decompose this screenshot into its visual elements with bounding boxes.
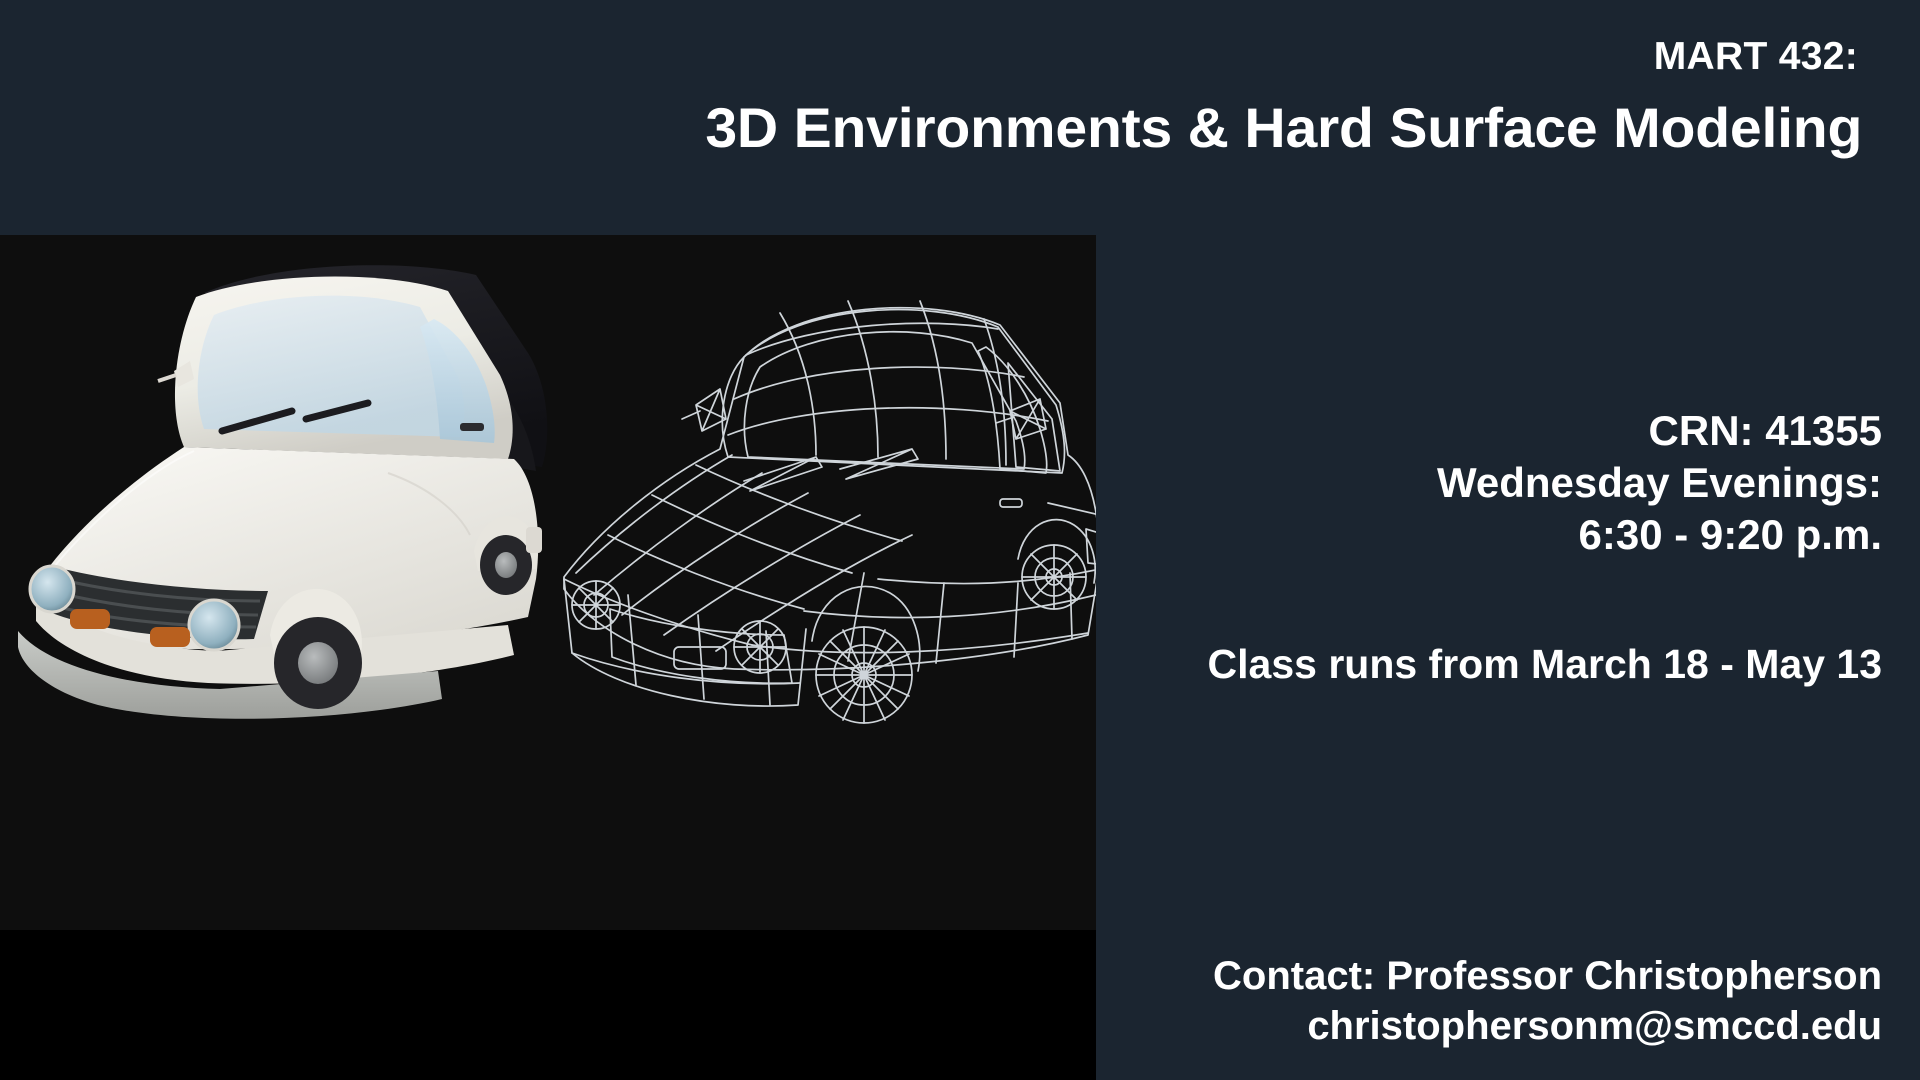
meeting-time-line: 6:30 - 9:20 p.m.	[1437, 509, 1882, 561]
artwork-panel	[0, 235, 1096, 930]
email-line[interactable]: christophersonm@smccd.edu	[1213, 1002, 1882, 1052]
car-render-illustration	[0, 235, 1096, 930]
course-promo-slide: MART 432: 3D Environments & Hard Surface…	[0, 0, 1920, 1080]
meeting-day-line: Wednesday Evenings:	[1437, 457, 1882, 509]
class-dates-line: Class runs from March 18 - May 13	[1208, 640, 1882, 689]
contact-block: Contact: Professor Christopherson christ…	[1213, 952, 1882, 1051]
schedule-block: CRN: 41355 Wednesday Evenings: 6:30 - 9:…	[1437, 405, 1882, 561]
page-title: 3D Environments & Hard Surface Modeling	[705, 96, 1862, 160]
artwork-panel-footer	[0, 930, 1096, 1080]
instructor-line: Contact: Professor Christopherson	[1213, 952, 1882, 1002]
class-dates-block: Class runs from March 18 - May 13	[1208, 640, 1882, 689]
crn-line: CRN: 41355	[1437, 405, 1882, 457]
course-code: MART 432:	[1654, 36, 1858, 79]
shaded-car	[18, 265, 547, 719]
wireframe-car	[564, 301, 1096, 723]
